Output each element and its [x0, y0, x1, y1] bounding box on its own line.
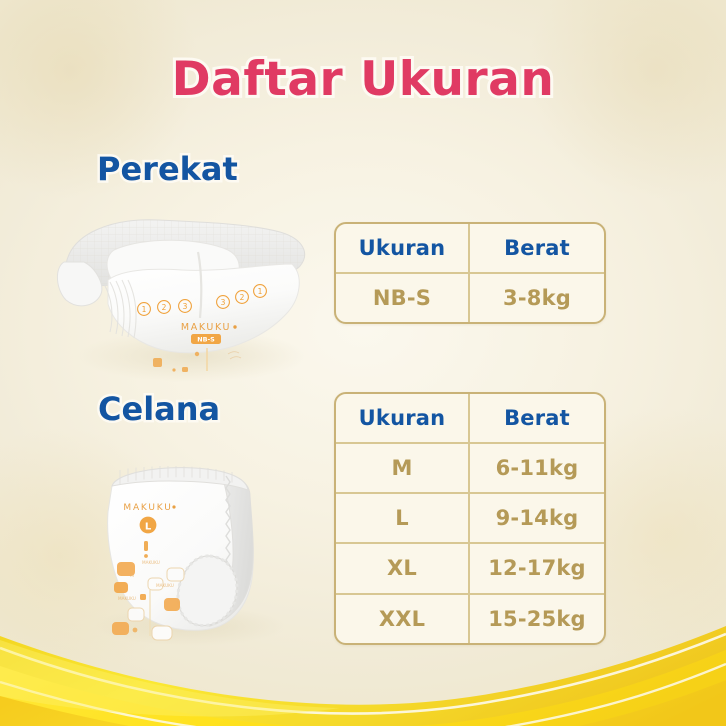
svg-text:MAKUKU: MAKUKU	[142, 560, 160, 565]
table-row: L 9-14kg	[336, 492, 604, 542]
svg-text:MAKUKU: MAKUKU	[181, 322, 231, 333]
column-header-berat: Berat	[470, 394, 604, 442]
size-chart-poster: Daftar Ukuran Perekat	[0, 0, 726, 726]
svg-text:m: m	[130, 573, 134, 578]
svg-text:MAKUKU: MAKUKU	[123, 503, 172, 513]
section-heading-perekat: Perekat	[97, 150, 238, 188]
table-row: NB-S 3-8kg	[336, 272, 604, 322]
cell-berat: 9-14kg	[470, 494, 604, 542]
table-row: XL 12-17kg	[336, 542, 604, 592]
svg-text:MAKUKU: MAKUKU	[156, 583, 174, 588]
svg-text:3: 3	[183, 302, 188, 311]
svg-text:NB-S: NB-S	[197, 336, 215, 344]
cell-ukuran: XL	[336, 544, 470, 592]
bottom-wave-decoration	[0, 596, 726, 726]
tape-diaper-illustration: 1 2 3 3 2 1 MAKUKU NB-S	[52, 206, 324, 382]
column-header-ukuran: Ukuran	[336, 394, 470, 442]
cell-berat: 3-8kg	[470, 274, 604, 322]
svg-text:1: 1	[258, 287, 263, 296]
table-row: M 6-11kg	[336, 442, 604, 492]
cell-berat: 6-11kg	[470, 444, 604, 492]
cell-ukuran: M	[336, 444, 470, 492]
section-heading-celana: Celana	[98, 390, 220, 428]
size-table-perekat: Ukuran Berat NB-S 3-8kg	[334, 222, 606, 324]
table-header-row: Ukuran Berat	[336, 224, 604, 272]
svg-text:2: 2	[240, 293, 245, 302]
page-title: Daftar Ukuran	[0, 52, 726, 107]
table-header-row: Ukuran Berat	[336, 394, 604, 442]
svg-text:L: L	[145, 522, 152, 533]
cell-berat: 12-17kg	[470, 544, 604, 592]
svg-text:3: 3	[221, 298, 226, 307]
svg-text:2: 2	[162, 303, 167, 312]
column-header-ukuran: Ukuran	[336, 224, 470, 272]
cell-ukuran: L	[336, 494, 470, 542]
cell-ukuran: NB-S	[336, 274, 470, 322]
column-header-berat: Berat	[470, 224, 604, 272]
svg-text:1: 1	[142, 305, 147, 314]
